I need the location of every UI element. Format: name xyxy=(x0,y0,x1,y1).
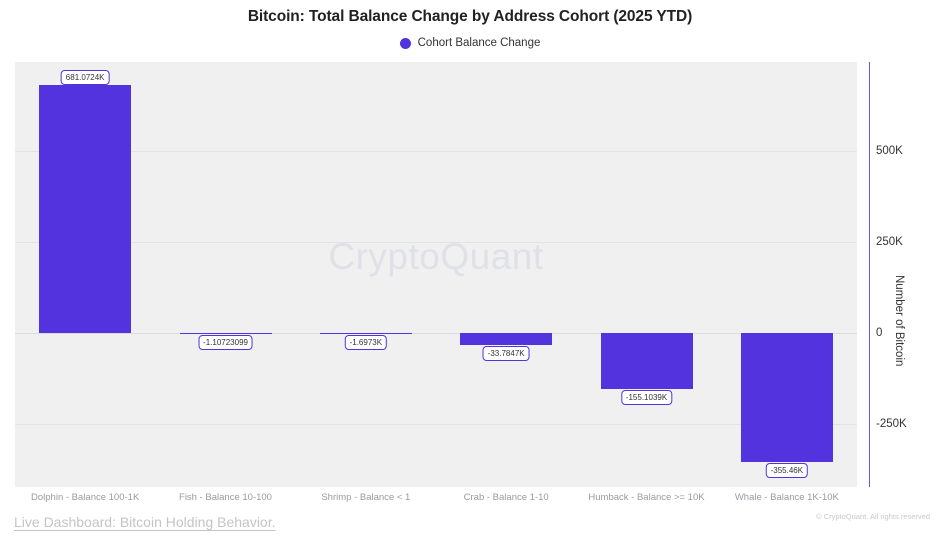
x-axis-tick-label: Crab - Balance 1-10 xyxy=(464,492,549,503)
bar-value-label: -33.7847K xyxy=(483,346,530,361)
bar[interactable] xyxy=(39,85,131,333)
bar-value-label: 681.0724K xyxy=(61,70,110,85)
y-axis-tick-label: -250K xyxy=(876,418,907,430)
chart-legend: Cohort Balance Change xyxy=(0,37,940,49)
x-axis-tick-label: Whale - Balance 1K-10K xyxy=(735,492,839,503)
bar[interactable] xyxy=(601,333,693,389)
plot-area: CryptoQuant 681.0724K-1.10723099-1.6973K… xyxy=(15,62,857,487)
bar[interactable] xyxy=(741,333,833,462)
legend-item-label: Cohort Balance Change xyxy=(418,37,541,49)
bar-value-label: -355.46K xyxy=(766,463,808,478)
y-axis-tick-label: 500K xyxy=(876,145,903,157)
y-axis-title: Number of Bitcoin xyxy=(893,275,905,366)
copyright-text: © CryptoQuant. All rights reserved xyxy=(816,512,930,521)
bar[interactable] xyxy=(460,333,552,345)
bar-value-label: -1.10723099 xyxy=(198,335,253,350)
legend-swatch-icon xyxy=(400,38,411,49)
x-axis-tick-label: Humback - Balance >= 10K xyxy=(588,492,704,503)
chart-container: Bitcoin: Total Balance Change by Address… xyxy=(0,0,940,556)
y-axis-line xyxy=(869,62,870,487)
live-dashboard-link[interactable]: Live Dashboard: Bitcoin Holding Behavior… xyxy=(14,514,276,530)
bar[interactable] xyxy=(180,333,272,334)
bar[interactable] xyxy=(320,333,412,334)
bars-group: 681.0724K-1.10723099-1.6973K-33.7847K-15… xyxy=(15,62,857,487)
y-axis-tick-label: 0 xyxy=(876,327,882,339)
bar-value-label: -1.6973K xyxy=(345,335,387,350)
y-axis-tick-label: 250K xyxy=(876,236,903,248)
bar-value-label: -155.1039K xyxy=(621,390,672,405)
x-axis-labels-group: Dolphin - Balance 100-1KFish - Balance 1… xyxy=(15,492,857,508)
x-axis-tick-label: Shrimp - Balance < 1 xyxy=(321,492,410,503)
chart-title: Bitcoin: Total Balance Change by Address… xyxy=(0,8,940,26)
x-axis-tick-label: Dolphin - Balance 100-1K xyxy=(31,492,139,503)
x-axis-tick-label: Fish - Balance 10-100 xyxy=(179,492,272,503)
